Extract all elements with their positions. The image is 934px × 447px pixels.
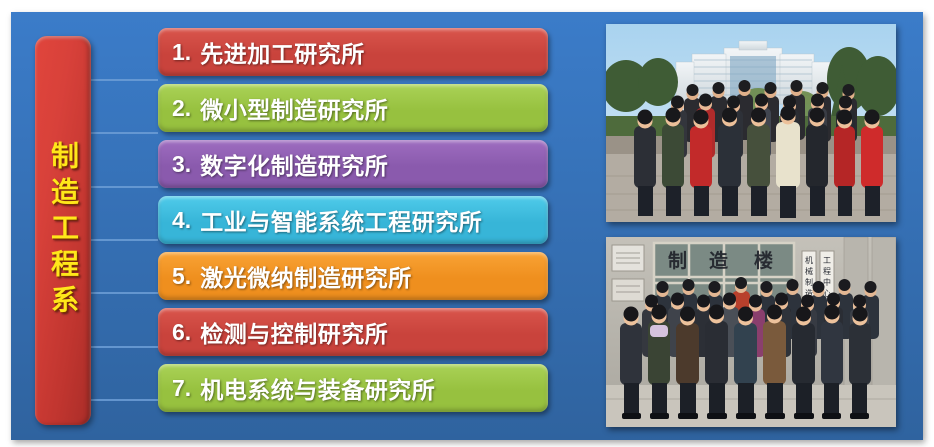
institute-item-6[interactable]: 6. 检测与控制研究所 bbox=[158, 308, 548, 356]
institute-item-7[interactable]: 7. 机电系统与装备研究所 bbox=[158, 364, 548, 412]
slide-panel: 制造工程系 1. 先进加工研究所 2. 微小型制造研究所 3. 数字化制造研究所… bbox=[11, 12, 923, 440]
group-photo-entrance[interactable]: 制 造 楼 bbox=[606, 237, 896, 427]
svg-text:造: 造 bbox=[709, 249, 729, 272]
department-bar[interactable]: 制造工程系 bbox=[35, 36, 91, 425]
institute-item-5[interactable]: 5. 激光微纳制造研究所 bbox=[158, 252, 548, 300]
institute-name: 工业与智能系统工程研究所 bbox=[200, 203, 482, 237]
svg-text:械: 械 bbox=[805, 266, 813, 276]
institute-number: 6. bbox=[158, 319, 200, 346]
institute-item-3[interactable]: 3. 数字化制造研究所 bbox=[158, 140, 548, 188]
institute-number: 5. bbox=[158, 263, 200, 290]
institute-list: 1. 先进加工研究所 2. 微小型制造研究所 3. 数字化制造研究所 4. 工业… bbox=[158, 28, 548, 420]
institute-number: 7. bbox=[158, 375, 200, 402]
group-photo-outdoor[interactable] bbox=[606, 24, 896, 222]
institute-name: 先进加工研究所 bbox=[200, 35, 365, 69]
institute-number: 4. bbox=[158, 207, 200, 234]
institute-name: 微小型制造研究所 bbox=[200, 91, 388, 125]
institute-name: 数字化制造研究所 bbox=[200, 147, 388, 181]
svg-text:程: 程 bbox=[823, 267, 831, 276]
institute-number: 2. bbox=[158, 95, 200, 122]
institute-name: 激光微纳制造研究所 bbox=[200, 259, 412, 293]
department-label: 制造工程系 bbox=[49, 141, 77, 321]
institute-item-2[interactable]: 2. 微小型制造研究所 bbox=[158, 84, 548, 132]
institute-number: 1. bbox=[158, 39, 200, 66]
institute-item-1[interactable]: 1. 先进加工研究所 bbox=[158, 28, 548, 76]
svg-text:制: 制 bbox=[805, 277, 813, 287]
svg-text:机: 机 bbox=[805, 255, 813, 265]
institute-item-4[interactable]: 4. 工业与智能系统工程研究所 bbox=[158, 196, 548, 244]
institute-name: 检测与控制研究所 bbox=[200, 315, 388, 349]
slide-canvas: 制造工程系 1. 先进加工研究所 2. 微小型制造研究所 3. 数字化制造研究所… bbox=[0, 0, 934, 447]
svg-text:工: 工 bbox=[823, 256, 831, 265]
svg-text:制: 制 bbox=[668, 249, 687, 272]
institute-name: 机电系统与装备研究所 bbox=[200, 371, 435, 405]
institute-number: 3. bbox=[158, 151, 200, 178]
svg-text:楼: 楼 bbox=[754, 249, 773, 272]
